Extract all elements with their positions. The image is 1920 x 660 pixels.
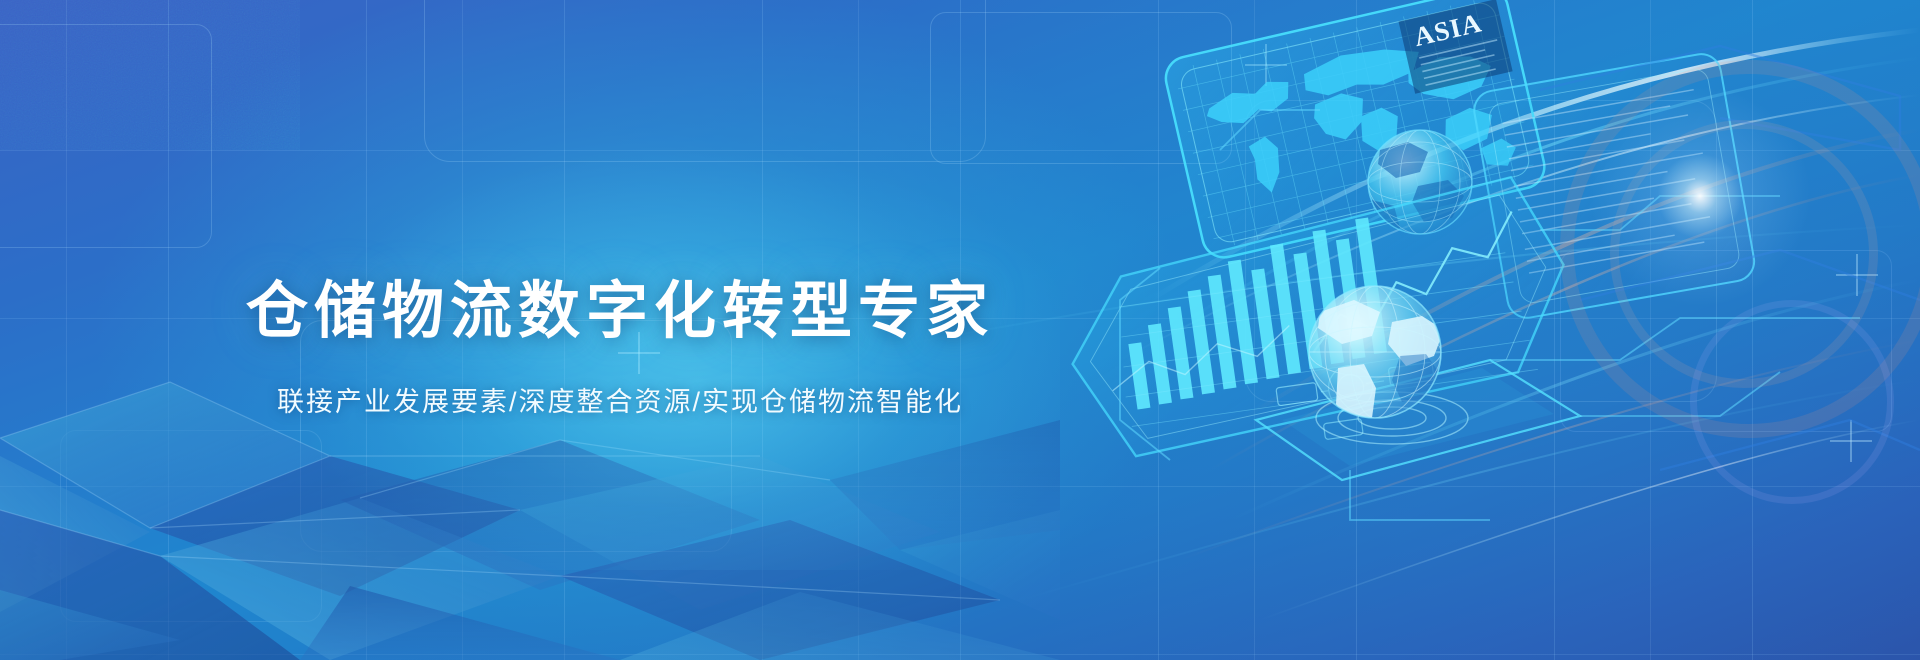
grid-sparkle-icon bbox=[1245, 44, 1287, 86]
lens-flare-ring-outer bbox=[1560, 60, 1920, 438]
hero-banner: ASIA bbox=[0, 0, 1920, 660]
grid-sparkle-icon bbox=[1836, 254, 1878, 296]
data-text-panel bbox=[1471, 51, 1757, 321]
globe-sphere-upper bbox=[1366, 130, 1472, 238]
asia-label: ASIA bbox=[1399, 0, 1513, 94]
globe-platform bbox=[1256, 360, 1580, 480]
globe-sphere-main bbox=[1309, 286, 1444, 432]
decorative-outline-6 bbox=[1560, 250, 1892, 432]
line-graph bbox=[1298, 211, 1527, 352]
svg-text:ASIA: ASIA bbox=[1411, 7, 1485, 52]
banner-subheadline: 联接产业发展要素/深度整合资源/实现仓储物流智能化 bbox=[277, 380, 963, 419]
grid-sparkle-icon bbox=[1830, 420, 1872, 462]
lens-flare-ring-inner bbox=[1690, 300, 1894, 504]
banner-copy: 仓储物流数字化转型专家 联接产业发展要素/深度整合资源/实现仓储物流智能化 bbox=[0, 0, 1240, 660]
decorative-outline-5 bbox=[1245, 100, 1717, 402]
lens-flare-ring-mid bbox=[1610, 120, 1878, 388]
lens-flare-core bbox=[1550, 46, 1850, 346]
banner-headline: 仓储物流数字化转型专家 bbox=[246, 260, 994, 350]
